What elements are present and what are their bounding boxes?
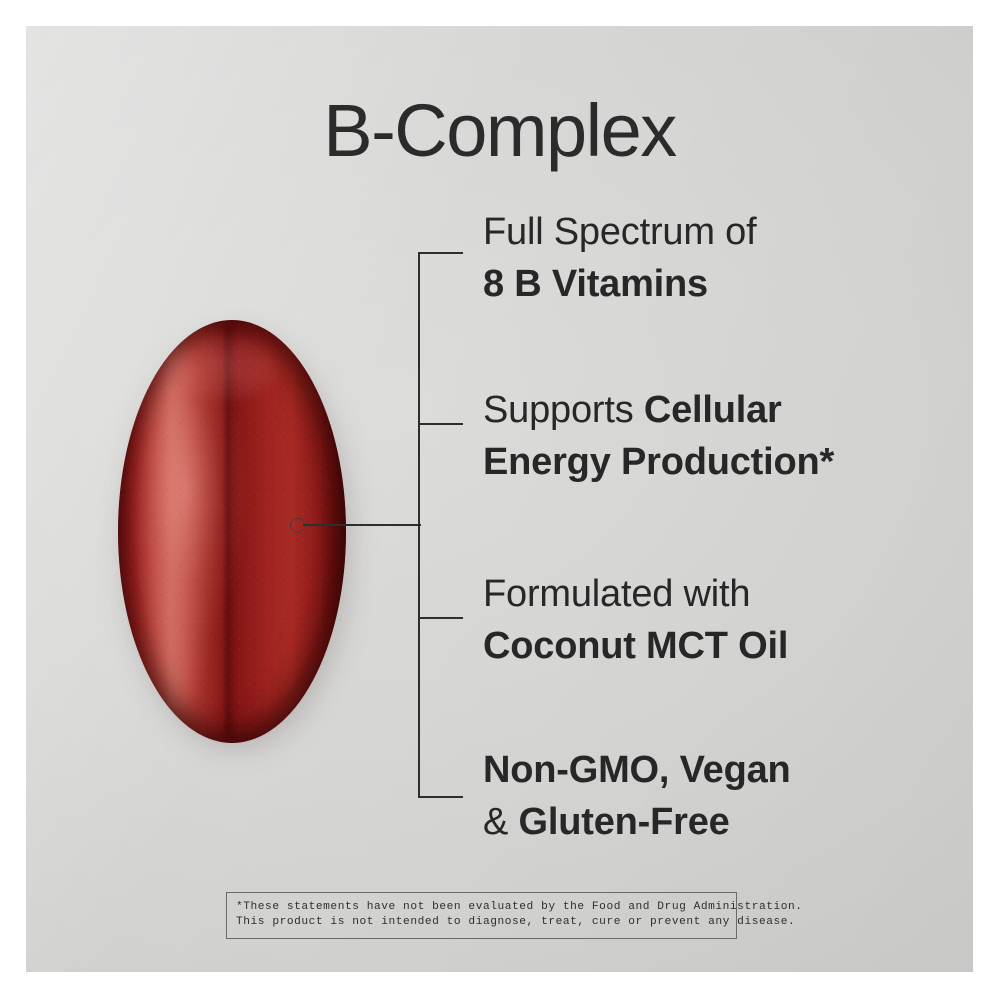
feature-2-line-1: Supports Cellular xyxy=(483,384,953,436)
feature-3-line-2: Coconut MCT Oil xyxy=(483,620,953,672)
feature-2-text-bold-b: Energy Production* xyxy=(483,441,834,483)
feature-3-text-regular: Formulated with xyxy=(483,573,750,615)
feature-1-line-2: 8 B Vitamins xyxy=(483,258,953,310)
disclaimer-line-1: *These statements have not been evaluate… xyxy=(236,900,727,915)
feature-2-text-bold-a: Cellular xyxy=(644,389,782,431)
bracket-tick-4 xyxy=(418,796,463,798)
disclaimer-box: *These statements have not been evaluate… xyxy=(226,892,737,939)
feature-1-text-regular: Full Spectrum of xyxy=(483,211,756,253)
feature-item-1: Full Spectrum of 8 B Vitamins xyxy=(483,206,953,310)
page-title: B-Complex xyxy=(26,94,973,168)
feature-1-line-1: Full Spectrum of xyxy=(483,206,953,258)
feature-4-line-2: & Gluten-Free xyxy=(483,796,953,848)
feature-4-text-bold-b: Gluten-Free xyxy=(519,801,730,843)
capsule-body xyxy=(118,320,346,743)
bracket-tick-3 xyxy=(418,617,463,619)
bracket-spine xyxy=(418,252,420,798)
feature-3-line-1: Formulated with xyxy=(483,568,953,620)
feature-item-4: Non-GMO, Vegan & Gluten-Free xyxy=(483,744,953,848)
capsule-image xyxy=(118,320,346,743)
feature-1-text-bold: 8 B Vitamins xyxy=(483,263,708,305)
feature-4-line-1: Non-GMO, Vegan xyxy=(483,744,953,796)
feature-4-text-regular: & xyxy=(483,801,519,843)
bracket-tick-2 xyxy=(418,423,463,425)
feature-bracket xyxy=(418,252,466,798)
infographic-canvas: B-Complex Full Spectrum of 8 B Vitamins xyxy=(0,0,1000,1000)
feature-2-line-2: Energy Production* xyxy=(483,436,953,488)
feature-item-3: Formulated with Coconut MCT Oil xyxy=(483,568,953,672)
feature-2-text-regular: Supports xyxy=(483,389,644,431)
feature-4-text-bold-a: Non-GMO, Vegan xyxy=(483,749,791,791)
callout-leader-line xyxy=(303,524,421,526)
product-panel: B-Complex Full Spectrum of 8 B Vitamins xyxy=(26,26,973,972)
feature-3-text-bold: Coconut MCT Oil xyxy=(483,625,788,667)
disclaimer-line-2: This product is not intended to diagnose… xyxy=(236,915,727,930)
feature-item-2: Supports Cellular Energy Production* xyxy=(483,384,953,488)
bracket-tick-1 xyxy=(418,252,463,254)
capsule-rim-shading xyxy=(118,320,346,743)
